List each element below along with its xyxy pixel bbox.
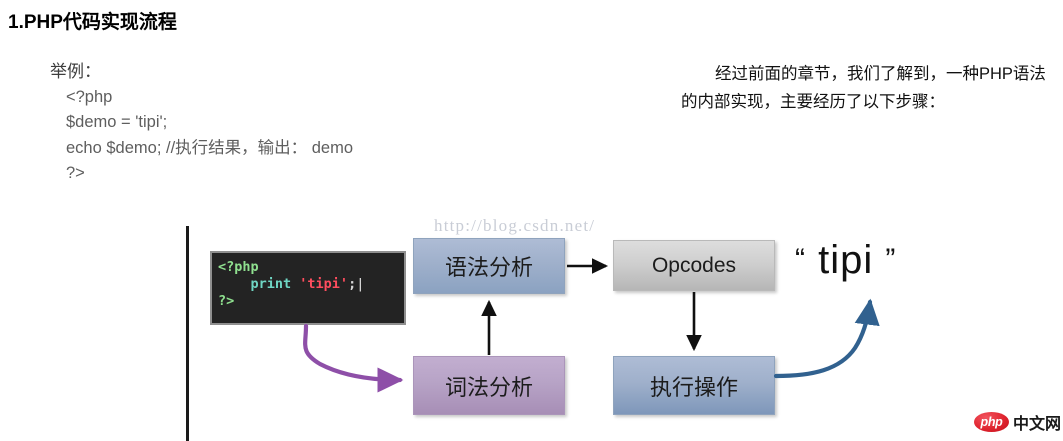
terminal-keyword: print: [251, 276, 292, 292]
brand-logo: php 中文网: [974, 410, 1061, 434]
terminal-indent: [218, 276, 251, 292]
result-output-text: “ tipi ”: [795, 236, 896, 284]
node-execute-operation[interactable]: 执行操作: [613, 356, 775, 415]
terminal-code-window: <?php print 'tipi';| ?>: [210, 251, 406, 325]
arrow-execute-to-result: [776, 302, 870, 376]
node-syntax-analysis[interactable]: 语法分析: [413, 238, 565, 294]
result-open-quote: “: [795, 243, 806, 276]
php-badge-icon: php: [974, 412, 1009, 432]
diagram-left-rule: [186, 226, 189, 441]
watermark-text: http://blog.csdn.net/: [434, 216, 595, 236]
brand-wordmark: 中文网: [1013, 410, 1061, 434]
terminal-open-tag: <?php: [218, 259, 259, 275]
arrow-terminal-to-lexical: [305, 326, 400, 380]
terminal-semicolon: ;: [348, 276, 356, 292]
terminal-string: 'tipi': [299, 276, 348, 292]
flow-diagram: http://blog.csdn.net/ <?php print 'tipi'…: [0, 0, 1063, 441]
node-opcodes[interactable]: Opcodes: [613, 240, 775, 291]
node-lexical-analysis[interactable]: 词法分析: [413, 356, 565, 415]
result-close-quote: ”: [885, 243, 896, 276]
result-value: tipi: [818, 238, 873, 282]
terminal-close-tag: ?>: [218, 293, 234, 309]
terminal-caret: |: [356, 276, 364, 292]
